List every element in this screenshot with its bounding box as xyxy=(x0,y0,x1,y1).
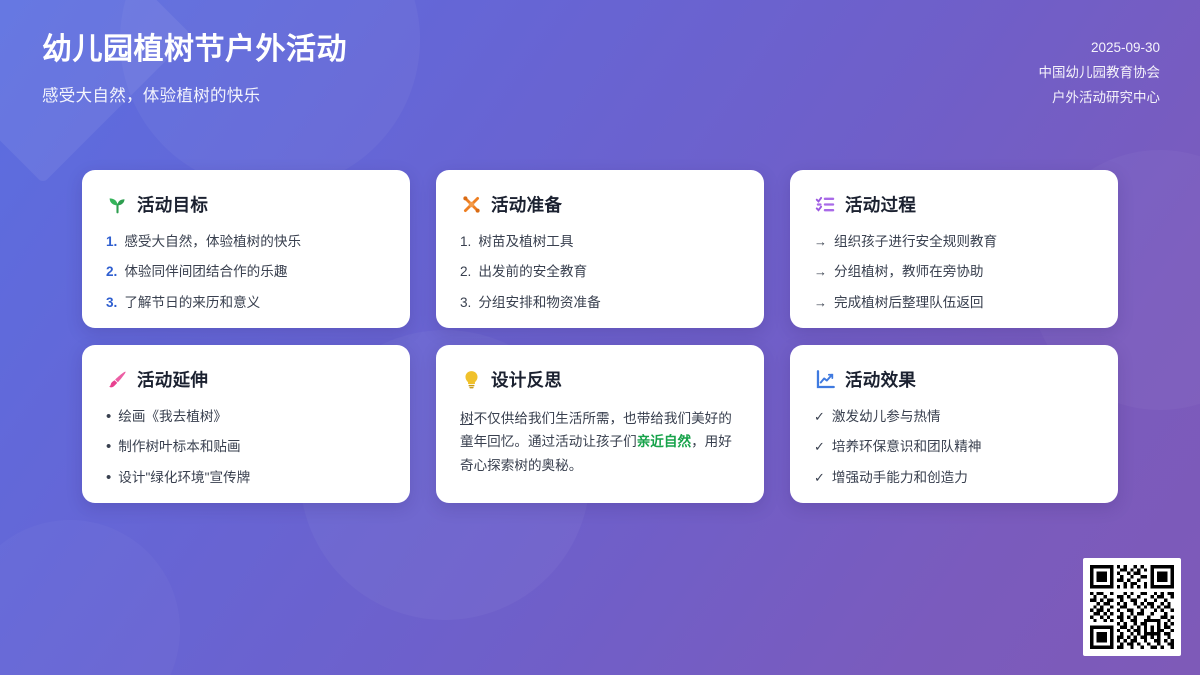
paragraph-highlight-term: 亲近自然 xyxy=(637,434,691,449)
list-marker: 1. xyxy=(106,232,117,252)
tools-icon xyxy=(460,194,482,216)
card-title: 活动过程 xyxy=(845,192,916,217)
list-text: 了解节日的来历和意义 xyxy=(124,293,260,313)
list-marker: ✓ xyxy=(814,407,825,427)
list-marker: ✓ xyxy=(814,437,825,457)
card-header: 活动过程 xyxy=(814,192,1094,217)
card-activity-outcomes: 活动效果 ✓ 激发幼儿参与热情 ✓ 培养环保意识和团队精神 ✓ 增强动手能力和创… xyxy=(790,345,1118,503)
list-marker: → xyxy=(814,232,827,252)
list-item: 1. 树苗及植树工具 xyxy=(460,232,740,252)
list-text: 分组安排和物资准备 xyxy=(478,293,600,313)
list-item: → 组织孩子进行安全规则教育 xyxy=(814,232,1094,252)
card-header: 活动效果 xyxy=(814,367,1094,392)
card-title: 活动延伸 xyxy=(137,367,208,392)
card-activity-extension: 活动延伸 • 绘画《我去植树》 • 制作树叶标本和贴画 • 设计"绿化环境"宣传… xyxy=(82,345,410,503)
page-subtitle: 感受大自然，体验植树的快乐 xyxy=(42,82,347,106)
title-block: 幼儿园植树节户外活动 感受大自然，体验植树的快乐 xyxy=(42,30,347,106)
reflection-paragraph: 树不仅供给我们生活所需，也带给我们美好的童年回忆。通过活动让孩子们亲近自然，用好… xyxy=(460,407,740,477)
card-list: → 组织孩子进行安全规则教育 → 分组植树，教师在旁协助 → 完成植树后整理队伍… xyxy=(814,232,1094,313)
meta-date: 2025-09-30 xyxy=(1039,36,1161,61)
card-header: 设计反思 xyxy=(460,367,740,392)
seedling-icon xyxy=(106,194,128,216)
list-item: • 绘画《我去植树》 xyxy=(106,407,386,427)
meta-department: 户外活动研究中心 xyxy=(1039,86,1161,111)
list-marker: 2. xyxy=(106,262,117,282)
list-item: • 制作树叶标本和贴画 xyxy=(106,437,386,457)
list-item: 3. 了解节日的来历和意义 xyxy=(106,293,386,313)
list-item: 2. 出发前的安全教育 xyxy=(460,262,740,282)
list-item: 1. 感受大自然，体验植树的快乐 xyxy=(106,232,386,252)
list-marker: • xyxy=(106,439,111,454)
list-marker: ✓ xyxy=(814,468,825,488)
card-title: 设计反思 xyxy=(491,367,562,392)
list-item: → 分组植树，教师在旁协助 xyxy=(814,262,1094,282)
card-title: 活动效果 xyxy=(845,367,916,392)
list-text: 绘画《我去植树》 xyxy=(118,407,227,427)
qr-code-image xyxy=(1090,565,1174,649)
list-text: 分组植树，教师在旁协助 xyxy=(834,262,984,282)
paintbrush-icon xyxy=(106,369,128,391)
decorative-circle-bottom-left xyxy=(0,520,180,675)
list-item: ✓ 增强动手能力和创造力 xyxy=(814,468,1094,488)
list-marker: • xyxy=(106,470,111,485)
slide-canvas: 幼儿园植树节户外活动 感受大自然，体验植树的快乐 2025-09-30 中国幼儿… xyxy=(0,0,1200,675)
slide-header: 幼儿园植树节户外活动 感受大自然，体验植树的快乐 2025-09-30 中国幼儿… xyxy=(0,0,1200,140)
header-meta: 2025-09-30 中国幼儿园教育协会 户外活动研究中心 xyxy=(1039,30,1161,111)
list-marker: • xyxy=(106,409,111,424)
card-grid: 活动目标 1. 感受大自然，体验植树的快乐 2. 体验同伴间团结合作的乐趣 3.… xyxy=(82,170,1118,503)
list-marker: 3. xyxy=(460,293,471,313)
list-item: → 完成植树后整理队伍返回 xyxy=(814,293,1094,313)
card-title: 活动准备 xyxy=(491,192,562,217)
card-title: 活动目标 xyxy=(137,192,208,217)
list-text: 培养环保意识和团队精神 xyxy=(832,437,982,457)
qr-code[interactable] xyxy=(1083,558,1181,656)
card-list: 1. 树苗及植树工具 2. 出发前的安全教育 3. 分组安排和物资准备 xyxy=(460,232,740,313)
list-text: 树苗及植树工具 xyxy=(478,232,573,252)
list-marker: 2. xyxy=(460,262,471,282)
card-design-reflection: 设计反思 树不仅供给我们生活所需，也带给我们美好的童年回忆。通过活动让孩子们亲近… xyxy=(436,345,764,503)
list-item: ✓ 激发幼儿参与热情 xyxy=(814,407,1094,427)
card-header: 活动准备 xyxy=(460,192,740,217)
page-title: 幼儿园植树节户外活动 xyxy=(42,32,347,68)
list-marker: 1. xyxy=(460,232,471,252)
list-text: 制作树叶标本和贴画 xyxy=(118,437,240,457)
list-text: 激发幼儿参与热情 xyxy=(832,407,941,427)
list-text: 组织孩子进行安全规则教育 xyxy=(834,232,997,252)
lightbulb-icon xyxy=(460,369,482,391)
list-text: 增强动手能力和创造力 xyxy=(832,468,968,488)
chart-trend-icon xyxy=(814,369,836,391)
card-list: • 绘画《我去植树》 • 制作树叶标本和贴画 • 设计"绿化环境"宣传牌 xyxy=(106,407,386,488)
card-activity-goals: 活动目标 1. 感受大自然，体验植树的快乐 2. 体验同伴间团结合作的乐趣 3.… xyxy=(82,170,410,328)
list-marker: → xyxy=(814,262,827,282)
card-activity-process: 活动过程 → 组织孩子进行安全规则教育 → 分组植树，教师在旁协助 → 完成植树… xyxy=(790,170,1118,328)
list-item: ✓ 培养环保意识和团队精神 xyxy=(814,437,1094,457)
list-text: 感受大自然，体验植树的快乐 xyxy=(124,232,301,252)
checklist-icon xyxy=(814,194,836,216)
list-text: 完成植树后整理队伍返回 xyxy=(834,293,984,313)
list-item: 3. 分组安排和物资准备 xyxy=(460,293,740,313)
card-list: ✓ 激发幼儿参与热情 ✓ 培养环保意识和团队精神 ✓ 增强动手能力和创造力 xyxy=(814,407,1094,488)
list-item: 2. 体验同伴间团结合作的乐趣 xyxy=(106,262,386,282)
list-marker: 3. xyxy=(106,293,117,313)
card-header: 活动延伸 xyxy=(106,367,386,392)
paragraph-underlined-term: 树 xyxy=(460,411,474,426)
card-header: 活动目标 xyxy=(106,192,386,217)
card-activity-preparation: 活动准备 1. 树苗及植树工具 2. 出发前的安全教育 3. 分组安排和物资准备 xyxy=(436,170,764,328)
list-text: 体验同伴间团结合作的乐趣 xyxy=(124,262,287,282)
list-text: 设计"绿化环境"宣传牌 xyxy=(118,468,250,488)
list-marker: → xyxy=(814,293,827,313)
card-list: 1. 感受大自然，体验植树的快乐 2. 体验同伴间团结合作的乐趣 3. 了解节日… xyxy=(106,232,386,313)
meta-organization: 中国幼儿园教育协会 xyxy=(1039,61,1161,86)
list-item: • 设计"绿化环境"宣传牌 xyxy=(106,468,386,488)
list-text: 出发前的安全教育 xyxy=(478,262,587,282)
